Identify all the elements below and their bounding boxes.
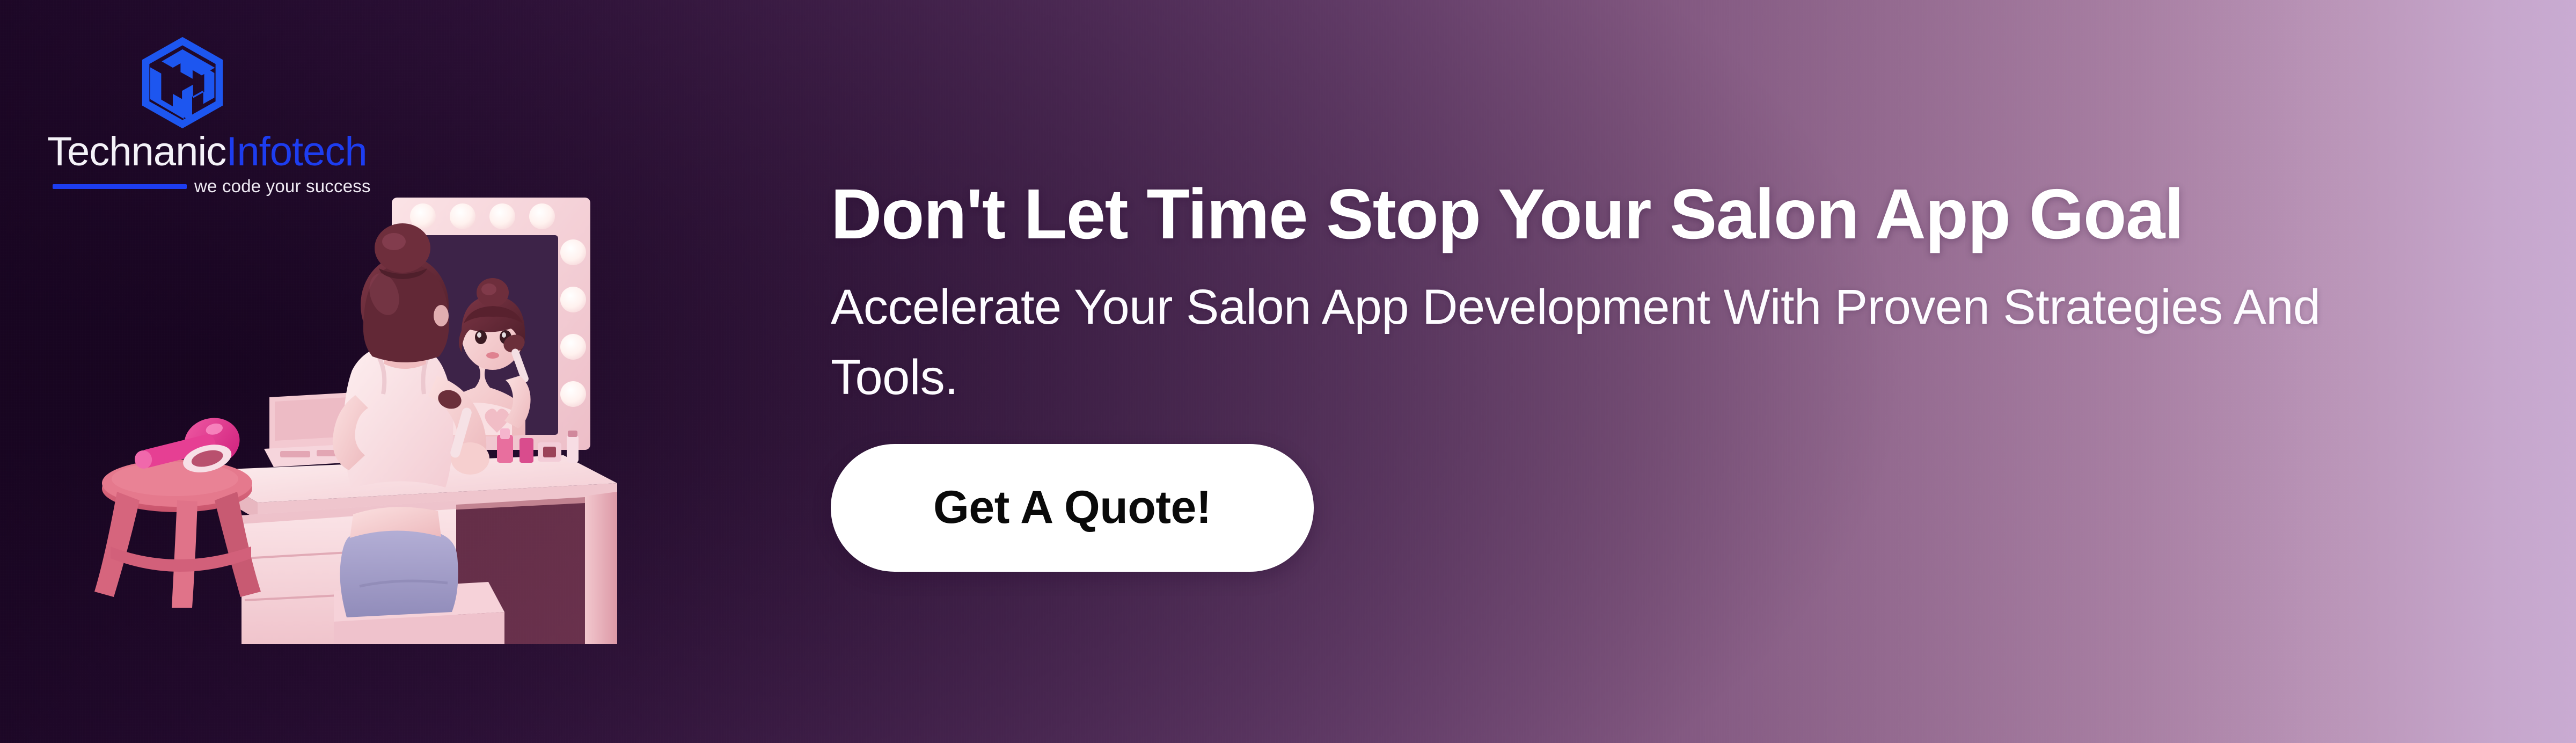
brand-wordmark: TechnanicInfotech xyxy=(47,132,348,172)
get-a-quote-button[interactable]: Get A Quote! xyxy=(831,444,1314,572)
brand-name-secondary: Infotech xyxy=(226,129,367,174)
brand-logo[interactable]: TechnanicInfotech we code your success xyxy=(47,34,348,196)
woman-applying-makeup-at-vanity-3d-icon xyxy=(80,183,730,644)
subheading: Accelerate Your Salon App Development Wi… xyxy=(831,272,2451,412)
stool-with-hair-dryer xyxy=(94,412,261,608)
brand-name-primary: Technanic xyxy=(47,129,226,174)
promo-banner: TechnanicInfotech we code your success xyxy=(0,0,2576,743)
isometric-cube-logo-icon xyxy=(134,34,231,131)
cta-container: Get A Quote! xyxy=(831,444,2473,572)
page-title: Don't Let Time Stop Your Salon App Goal xyxy=(831,177,2473,251)
vanity-illustration xyxy=(80,183,730,644)
banner-copy: Don't Let Time Stop Your Salon App Goal … xyxy=(831,177,2473,572)
